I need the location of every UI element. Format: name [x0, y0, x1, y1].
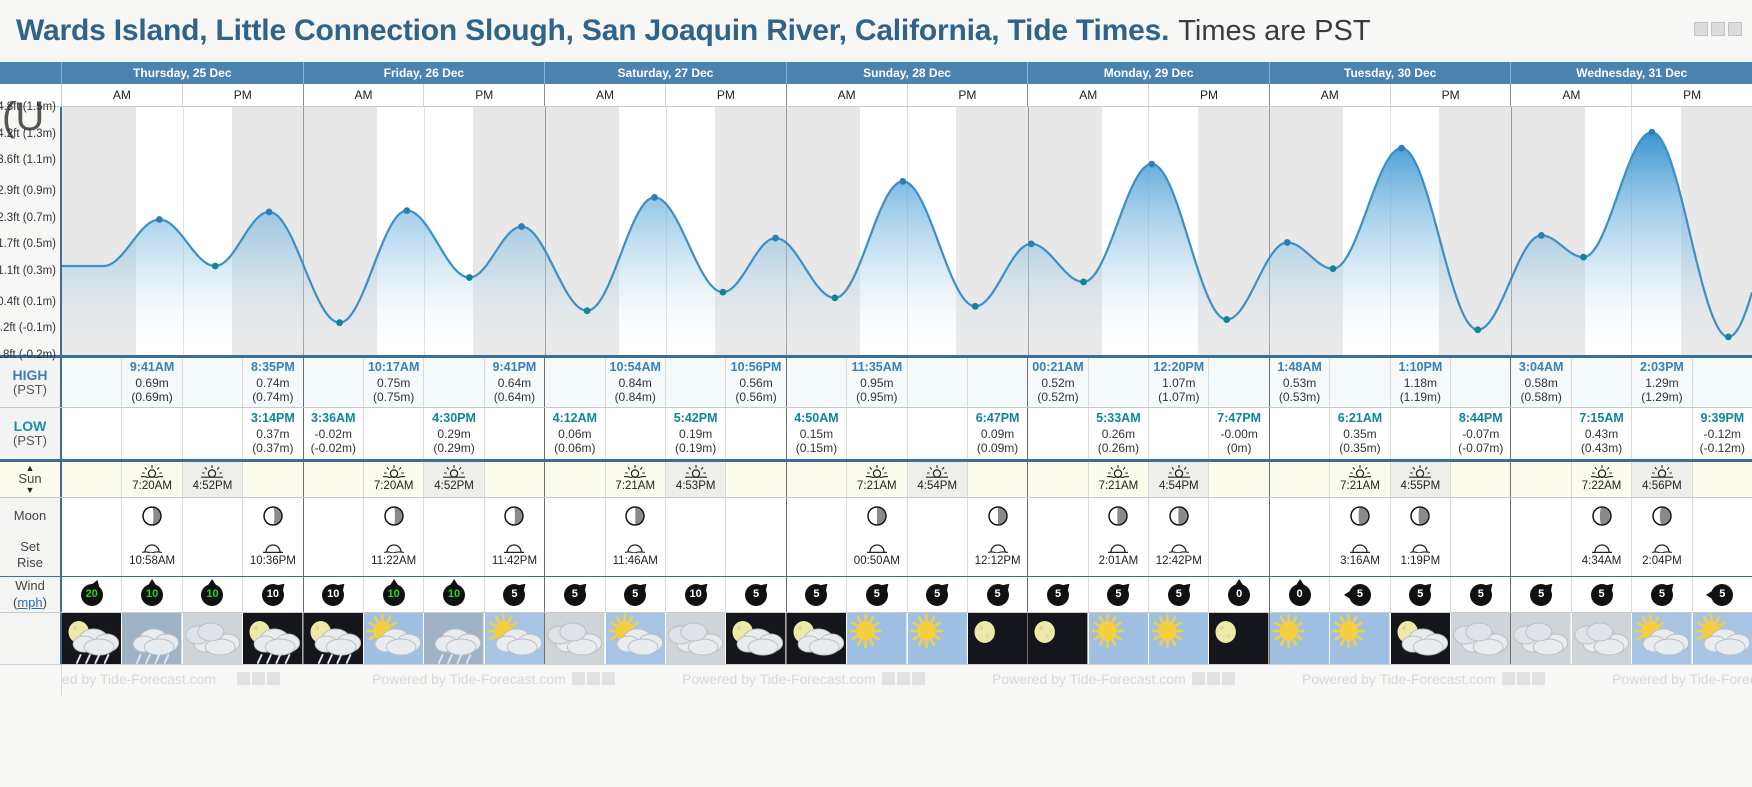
moonset-icon [1410, 541, 1430, 553]
low-tide-height-alt: (0.06m) [554, 441, 595, 456]
weather-day-group [304, 613, 546, 664]
low-tide-time: 7:15AM [1579, 411, 1623, 426]
high-tide-cell [908, 358, 968, 407]
moon-cell [62, 498, 122, 534]
high-tide-cell: 1:48AM0.53m(0.53m) [1270, 358, 1330, 407]
moon-setrise-cell [1270, 534, 1330, 576]
weather-cell [1089, 613, 1149, 665]
wind-cell: 5 [1391, 577, 1451, 612]
ampm-day-group: AMPM [1511, 84, 1752, 106]
weather-cell [1330, 613, 1390, 665]
weather-cell [364, 613, 424, 665]
wind-speed-badge: 5 [866, 584, 888, 606]
moon-setrise-cell: 10:58AM [122, 534, 182, 576]
moon-phase-icon [262, 505, 284, 527]
sunrise-icon [624, 465, 646, 478]
y-axis-tick-label: 2.9ft (0.9m) [0, 185, 56, 197]
day-group: 11:22AM11:42PM [304, 534, 546, 576]
low-tide-cell [847, 408, 907, 459]
high-tide-cell [1330, 358, 1390, 407]
high-tide-cell: 8:35PM0.74m(0.74m) [243, 358, 302, 407]
weather-icon-cloud [1511, 613, 1570, 665]
weather-icon-cloud-night [787, 613, 846, 665]
sunrise-time: 7:21AM [857, 479, 897, 493]
moon-setrise-cell [1693, 534, 1752, 576]
wind-speed-badge: 5 [926, 584, 948, 606]
weather-label [0, 613, 62, 664]
low-tide-height-alt: (0.35m) [1339, 441, 1380, 456]
moonrise-icon [867, 541, 887, 553]
sunrise-time: 7:21AM [1099, 479, 1139, 493]
moon-cell [1330, 498, 1390, 534]
low-tide-height: 0.19m [679, 427, 712, 442]
moon-set-time: 12:42PM [1156, 554, 1202, 568]
window-controls[interactable] [1694, 22, 1742, 36]
low-tide-label-sub: (PST) [13, 434, 47, 449]
moon-setrise-cell: 1:19PM [1391, 534, 1451, 576]
ampm-cell: AM [1270, 84, 1391, 106]
sun-cell: 7:21AM [847, 462, 907, 497]
wind-cell: 5 [908, 577, 968, 612]
day-header-cell: Monday, 29 Dec [1028, 62, 1270, 84]
high-tide-cell [787, 358, 847, 407]
moon-phase-icon [866, 505, 888, 527]
moon-cell [1149, 498, 1209, 534]
high-tide-cell [62, 358, 122, 407]
low-tide-cell: 6:21AM0.35m(0.35m) [1330, 408, 1390, 459]
moon-setrise-cell: 4:34AM [1572, 534, 1632, 576]
y-axis-tick-label: -0.2ft (-0.1m) [0, 322, 56, 334]
footer-icon-share [1207, 672, 1220, 685]
moon-setrise-cell: 12:42PM [1149, 534, 1209, 576]
weather-icon-moon [968, 613, 1027, 665]
wind-unit-text: mph [17, 595, 42, 610]
moon-cell [304, 498, 364, 534]
wind-cell: 10 [183, 577, 243, 612]
sun-cell [1209, 462, 1268, 497]
weather-icon-cloud [1572, 613, 1631, 665]
moon-setrise-cell: 11:46AM [606, 534, 666, 576]
low-tide-cell: 7:15AM0.43m(0.43m) [1572, 408, 1632, 459]
low-tide-height-alt: (0.37m) [252, 441, 293, 456]
low-tide-marker [720, 289, 727, 296]
moon-cell [243, 498, 302, 534]
moonset-icon [1652, 541, 1672, 553]
high-tide-cell [183, 358, 243, 407]
weather-icon-cloud-night [1391, 613, 1450, 665]
high-tide-height: 0.75m [377, 376, 410, 391]
high-tide-marker [156, 216, 163, 223]
moon-set-time: 10:58AM [129, 554, 175, 568]
day-group: 5550 [1028, 577, 1270, 612]
moon-cell [787, 498, 847, 534]
moon-setrise-cell [908, 534, 968, 576]
low-tide-time: 3:36AM [311, 411, 355, 426]
sun-cell [304, 462, 364, 497]
day-group: 10:58AM10:36PM [62, 534, 304, 576]
low-tide-cell [726, 408, 785, 459]
weather-icon-sunny [1149, 613, 1208, 665]
high-tide-height: 0.52m [1041, 376, 1074, 391]
wind-speed-badge: 10 [141, 584, 163, 606]
high-tide-marker [1148, 161, 1155, 168]
high-tide-height-alt: (0.75m) [373, 390, 414, 405]
ampm-day-group: AMPM [545, 84, 787, 106]
wind-cell: 5 [1572, 577, 1632, 612]
low-tide-cell [1270, 408, 1330, 459]
high-tide-marker [899, 178, 906, 185]
footer-spacer [0, 665, 62, 695]
sun-cell [1270, 462, 1330, 497]
weather-icon-night-rain [243, 613, 302, 665]
high-tide-height-alt: (1.07m) [1158, 390, 1199, 405]
low-tide-marker [1223, 316, 1230, 323]
high-tide-height: 1.29m [1645, 376, 1678, 391]
low-tide-cell: 7:47PM-0.00m(0m) [1209, 408, 1268, 459]
wind-speed-badge: 5 [1711, 584, 1733, 606]
sun-cell: 4:56PM [1632, 462, 1692, 497]
low-tide-marker [972, 303, 979, 310]
weather-icon-cloud-night [726, 613, 785, 665]
weather-icon-cloud [666, 613, 725, 665]
day-header-cell: Saturday, 27 Dec [545, 62, 787, 84]
day-group: 2:01AM12:42PM [1028, 534, 1270, 576]
high-tide-cell: 1:10PM1.18m(1.19m) [1391, 358, 1451, 407]
weather-cell [1149, 613, 1209, 665]
moon-cell [968, 498, 1027, 534]
wind-speed-badge: 5 [1047, 584, 1069, 606]
low-tide-height: 0.37m [256, 427, 289, 442]
ampm-cell: PM [183, 84, 303, 106]
ampm-day-group: AMPM [62, 84, 304, 106]
weather-icon-cloud-sun [485, 613, 544, 665]
moon-setrise-cell: 00:50AM [847, 534, 907, 576]
sun-cell [726, 462, 785, 497]
low-tide-cell: 5:33AM0.26m(0.26m) [1089, 408, 1149, 459]
low-tide-height: 0.43m [1585, 427, 1618, 442]
high-tide-cell [666, 358, 726, 407]
footer-icon-warning [1532, 672, 1545, 685]
sun-cell [1693, 462, 1752, 497]
low-tide-cell: 3:36AM-0.02m(-0.02m) [304, 408, 364, 459]
weather-cell [1270, 613, 1330, 665]
moon-cell [545, 498, 605, 534]
high-tide-cell: 10:56PM0.56m(0.56m) [726, 358, 785, 407]
low-tide-cell [1028, 408, 1088, 459]
moon-cell [908, 498, 968, 534]
day-group: 7:21AM4:54PM [1028, 462, 1270, 497]
sun-cell: 7:21AM [1089, 462, 1149, 497]
sunrise-time: 7:21AM [615, 479, 655, 493]
wind-cell: 5 [1149, 577, 1209, 612]
low-tide-height: 0.26m [1102, 427, 1135, 442]
moon-phase-icon [1168, 505, 1190, 527]
high-tide-height-alt: (0.69m) [131, 390, 172, 405]
low-tide-cell: 4:50AM0.15m(0.15m) [787, 408, 847, 459]
wind-speed-badge: 5 [1591, 584, 1613, 606]
sun-cell [62, 462, 122, 497]
moon-phase-icon [987, 505, 1009, 527]
weather-icon-moon [1209, 613, 1268, 665]
moon-setrise-row: Set Rise 10:58AM10:36PM11:22AM11:42PM11:… [0, 534, 1752, 576]
high-tide-cell: 10:54AM0.84m(0.84m) [606, 358, 666, 407]
low-tide-time: 9:39PM [1700, 411, 1744, 426]
wind-speed-badge: 10 [685, 584, 707, 606]
moon-setrise-cell [666, 534, 726, 576]
weather-icon-sunny [847, 613, 906, 665]
low-tide-time: 5:42PM [674, 411, 718, 426]
weather-row [0, 612, 1752, 664]
moon-set-time: 1:19PM [1401, 554, 1441, 568]
moon-phase-icon [1107, 505, 1129, 527]
maximize-icon[interactable] [1711, 22, 1725, 36]
high-tide-label-sub: (PST) [13, 383, 47, 398]
moonrise-icon [1592, 541, 1612, 553]
weather-cell [424, 613, 484, 665]
day-group: 3:14PM0.37m(0.37m) [62, 408, 304, 459]
day-group [545, 498, 787, 534]
weather-icon-sunny [908, 613, 967, 665]
day-group: 4:12AM0.06m(0.06m)5:42PM0.19m(0.19m) [545, 408, 787, 459]
moon-cell [485, 498, 544, 534]
weather-icon-night-rain [62, 613, 121, 665]
weather-icon-cloud-rain [122, 613, 181, 665]
moon-setrise-cell: 11:42PM [485, 534, 544, 576]
weather-icon-cloud-sun [1693, 613, 1752, 665]
moon-cell [183, 498, 243, 534]
weather-icon-moon [1028, 613, 1087, 665]
y-axis-tick-label: 3.6ft (1.1m) [0, 154, 56, 166]
high-tide-cell [1209, 358, 1268, 407]
moon-rise-time: 2:01AM [1099, 554, 1139, 568]
sunset-icon [201, 465, 223, 478]
moon-cell [847, 498, 907, 534]
weather-icon-cloud-sun [606, 613, 665, 665]
sunset-time: 4:52PM [434, 479, 474, 493]
y-axis-tick-label: 0.4ft (0.1m) [0, 296, 56, 308]
high-tide-height: 0.64m [498, 376, 531, 391]
moon-cell [1451, 498, 1510, 534]
wind-speed-badge: 5 [987, 584, 1009, 606]
sun-cell [1511, 462, 1571, 497]
sunrise-time: 7:20AM [374, 479, 414, 493]
day-group: 10:17AM0.75m(0.75m)9:41PM0.64m(0.64m) [304, 358, 546, 407]
day-group [62, 498, 304, 534]
wind-cell: 10 [364, 577, 424, 612]
weather-icon-cloud [545, 613, 604, 665]
footer-icon-warning [912, 672, 925, 685]
ampm-cell: PM [424, 84, 544, 106]
moon-setrise-cell [726, 534, 785, 576]
moon-setrise-cell [424, 534, 484, 576]
sun-cell: 7:22AM [1572, 462, 1632, 497]
high-tide-height-alt: (0.95m) [856, 390, 897, 405]
high-tide-height: 0.56m [739, 376, 772, 391]
wind-cell: 5 [1330, 577, 1390, 612]
high-tide-cell: 2:03PM1.29m(1.29m) [1632, 358, 1692, 407]
high-tide-time: 1:10PM [1398, 360, 1442, 375]
day-header-cell: Friday, 26 Dec [304, 62, 546, 84]
high-tide-row: HIGH (PST) 9:41AM0.69m(0.69m)8:35PM0.74m… [0, 355, 1752, 407]
moon-set-time: 2:04PM [1642, 554, 1682, 568]
moon-cell [364, 498, 424, 534]
moonset-icon [988, 541, 1008, 553]
moonset-icon [142, 541, 162, 553]
wind-speed-badge: 5 [1409, 584, 1431, 606]
moon-setrise-cell: 10:36PM [243, 534, 302, 576]
sun-cell: 7:20AM [364, 462, 424, 497]
low-tide-height-alt: (0.19m) [675, 441, 716, 456]
low-tide-cell [1511, 408, 1571, 459]
weather-cell [1632, 613, 1692, 665]
sun-cell [545, 462, 605, 497]
sunset-icon [1409, 465, 1431, 478]
high-tide-cell: 9:41AM0.69m(0.69m) [122, 358, 182, 407]
footer-icon-share [1517, 672, 1530, 685]
sun-cell: 4:55PM [1391, 462, 1451, 497]
sunset-time: 4:54PM [1159, 479, 1199, 493]
moonrise-icon [1350, 541, 1370, 553]
weather-cell [243, 613, 302, 665]
sun-cell [243, 462, 302, 497]
moon-set-time: 11:22AM [371, 554, 416, 568]
wind-speed-badge: 10 [383, 584, 405, 606]
wind-speed-badge: 5 [1349, 584, 1371, 606]
high-tide-time: 1:48AM [1277, 360, 1321, 375]
powered-by-text: Powered by Tide-Forecast.com [992, 671, 1186, 687]
low-tide-cell [485, 408, 544, 459]
low-tide-height-alt: (0.15m) [796, 441, 837, 456]
sunset-time: 4:55PM [1401, 479, 1441, 493]
close-icon[interactable] [1728, 22, 1742, 36]
sunset-time: 4:54PM [917, 479, 957, 493]
sun-cell: 7:21AM [1330, 462, 1390, 497]
day-group: 5:33AM0.26m(0.26m)7:47PM-0.00m(0m) [1028, 408, 1270, 459]
low-tide-cell [1149, 408, 1209, 459]
footer-icon-chart [572, 672, 585, 685]
ampm-cell: AM [545, 84, 666, 106]
wind-speed-badge: 10 [201, 584, 223, 606]
low-tide-cell: 8:44PM-0.07m(-0.07m) [1451, 408, 1510, 459]
wind-cell: 5 [1451, 577, 1510, 612]
moon-setrise-cell: 2:01AM [1089, 534, 1149, 576]
ampm-cell: AM [787, 84, 908, 106]
powered-by-text: Powered by Tide-Forecast.com [1612, 671, 1752, 687]
moon-cell [666, 498, 726, 534]
footer-icons [882, 672, 925, 685]
minimize-icon[interactable] [1694, 22, 1708, 36]
moon-set-time: 11:46AM [613, 554, 658, 568]
moon-phase-icon [624, 505, 646, 527]
weather-cell [1209, 613, 1268, 665]
wind-speed-badge: 10 [322, 584, 344, 606]
footer-icons [1502, 672, 1545, 685]
high-tide-marker [1649, 129, 1656, 136]
sunrise-icon [1349, 465, 1371, 478]
wind-speed-badge: 10 [262, 584, 284, 606]
day-group [787, 498, 1029, 534]
moon-phase-icon [1651, 505, 1673, 527]
low-tide-row: LOW (PST) 3:14PM0.37m(0.37m)3:36AM-0.02m… [0, 407, 1752, 459]
moon-phase-icon [1409, 505, 1431, 527]
day-group [1511, 498, 1752, 534]
weather-icon-sun-cloud [364, 613, 423, 665]
weather-cell [1693, 613, 1752, 665]
day-group: 0555 [1270, 577, 1512, 612]
low-tide-cell [183, 408, 243, 459]
low-tide-time: 4:50AM [794, 411, 838, 426]
high-tide-height-alt: (0.56m) [735, 390, 776, 405]
sunrise-time: 7:20AM [132, 479, 172, 493]
high-tide-cell: 12:20PM1.07m(1.07m) [1149, 358, 1209, 407]
footer-icon-warning [267, 672, 280, 685]
sun-cell: 4:54PM [908, 462, 968, 497]
sun-cell: 4:53PM [666, 462, 726, 497]
high-tide-label-main: HIGH [13, 367, 48, 383]
title-bar: Wards Island, Little Connection Slough, … [0, 0, 1752, 62]
moon-setrise-cell [1028, 534, 1088, 576]
moon-cell [1511, 498, 1571, 534]
wind-label-text: Wind [15, 578, 45, 594]
high-tide-cell: 3:04AM0.58m(0.58m) [1511, 358, 1571, 407]
low-tide-marker [1330, 265, 1337, 272]
low-tide-height-alt: (0.29m) [433, 441, 474, 456]
y-axis-tick-label: -0.8ft (-0.2m) [0, 349, 56, 361]
low-tide-cell [122, 408, 182, 459]
day-group: 3:04AM0.58m(0.58m)2:03PM1.29m(1.29m) [1511, 358, 1752, 407]
ampm-day-group: AMPM [1270, 84, 1512, 106]
weather-cell [1572, 613, 1632, 665]
weather-cell [62, 613, 122, 665]
sun-cell [968, 462, 1027, 497]
ampm-cell: PM [666, 84, 786, 106]
day-group [304, 498, 546, 534]
low-tide-cell [364, 408, 424, 459]
high-tide-cell: 00:21AM0.52m(0.52m) [1028, 358, 1088, 407]
low-tide-time: 4:30PM [432, 411, 476, 426]
day-group: 3:36AM-0.02m(-0.02m)4:30PM0.29m(0.29m) [304, 408, 546, 459]
high-tide-time: 10:56PM [731, 360, 782, 375]
low-tide-time: 6:21AM [1338, 411, 1382, 426]
low-tide-label: LOW (PST) [0, 408, 62, 459]
low-tide-cell [1391, 408, 1451, 459]
weather-cell [304, 613, 364, 665]
weather-icon-sunny [1330, 613, 1389, 665]
ampm-cell: PM [1149, 84, 1269, 106]
high-tide-time: 00:21AM [1032, 360, 1083, 375]
sunrise-icon [866, 465, 888, 478]
wind-speed-badge: 0 [1289, 584, 1311, 606]
footer-icon-chart [237, 672, 250, 685]
powered-by-text: Powered by Tide-Forecast.com [372, 671, 566, 687]
moon-cell [726, 498, 785, 534]
footer-icon-chart [1502, 672, 1515, 685]
sun-cell [1451, 462, 1510, 497]
page-title: Wards Island, Little Connection Slough, … [16, 14, 1169, 48]
high-tide-height: 0.69m [135, 376, 168, 391]
moon-cell [1572, 498, 1632, 534]
wind-cell: 10 [424, 577, 484, 612]
wind-label: Wind (mph) [0, 577, 62, 612]
rise-label: Rise [17, 555, 43, 571]
ampm-day-group: AMPM [787, 84, 1029, 106]
wind-unit-link[interactable]: (mph) [13, 595, 47, 611]
timezone-note: Times are PST [1178, 15, 1370, 48]
wind-cell: 5 [787, 577, 847, 612]
high-tide-cell [1693, 358, 1752, 407]
low-tide-height: -0.07m [1462, 427, 1499, 442]
day-group: 7:21AM4:54PM [787, 462, 1029, 497]
